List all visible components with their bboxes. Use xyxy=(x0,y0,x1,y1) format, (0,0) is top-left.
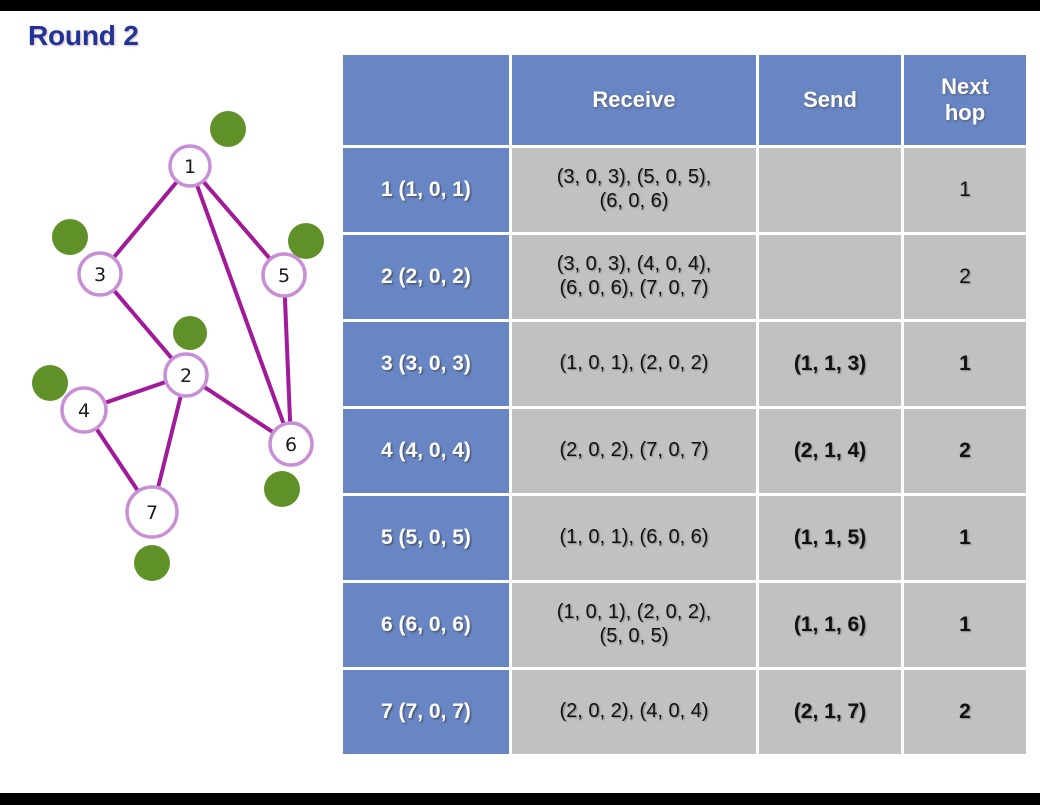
cell-receive: (2, 0, 2), (7, 0, 7) xyxy=(512,409,756,493)
message-dot-6 xyxy=(264,471,300,507)
message-dot-2 xyxy=(52,219,88,255)
cell-send: (1, 1, 6) xyxy=(759,583,901,667)
cell-node: 4 (4, 0, 4) xyxy=(343,409,509,493)
column-header-next-hop-line2: hop xyxy=(910,100,1020,126)
graph-edge-4-7 xyxy=(96,427,139,492)
cell-receive: (3, 0, 3), (4, 0, 4),(6, 0, 6), (7, 0, 7… xyxy=(512,235,756,319)
table-body: 1 (1, 0, 1)(3, 0, 3), (5, 0, 5),(6, 0, 6… xyxy=(343,148,1026,754)
cell-send: (2, 1, 7) xyxy=(759,670,901,754)
cell-receive-line1: (1, 0, 1), (2, 0, 2), xyxy=(518,601,750,625)
graph-node-label-4: 4 xyxy=(78,400,90,422)
cell-receive: (3, 0, 3), (5, 0, 5),(6, 0, 6) xyxy=(512,148,756,232)
cell-next-hop: 2 xyxy=(904,235,1026,319)
table-row: 3 (3, 0, 3)(1, 0, 1), (2, 0, 2)(1, 1, 3)… xyxy=(343,322,1026,406)
graph-edge-2-6 xyxy=(203,386,275,433)
table-row: 1 (1, 0, 1)(3, 0, 3), (5, 0, 5),(6, 0, 6… xyxy=(343,148,1026,232)
cell-send xyxy=(759,235,901,319)
graph-node-label-2: 2 xyxy=(180,365,192,387)
graph-edge-3-2 xyxy=(113,289,173,360)
cell-receive-line2: (6, 0, 6) xyxy=(518,190,750,214)
cell-send: (2, 1, 4) xyxy=(759,409,901,493)
cell-next-hop: 1 xyxy=(904,322,1026,406)
slide-canvas: Round 2 1352467 Receive Send Next hop 1 … xyxy=(0,11,1040,793)
cell-node: 3 (3, 0, 3) xyxy=(343,322,509,406)
cell-node: 7 (7, 0, 7) xyxy=(343,670,509,754)
cell-receive-line2: (6, 0, 6), (7, 0, 7) xyxy=(518,277,750,301)
graph-edge-2-7 xyxy=(158,394,181,488)
cell-node: 2 (2, 0, 2) xyxy=(343,235,509,319)
graph-edge-5-6 xyxy=(285,295,290,424)
cell-receive-line1: (2, 0, 2), (4, 0, 4) xyxy=(518,700,750,724)
cell-receive-line2: (5, 0, 5) xyxy=(518,625,750,649)
message-dot-3 xyxy=(288,223,324,259)
cell-node: 1 (1, 0, 1) xyxy=(343,148,509,232)
routing-table: Receive Send Next hop 1 (1, 0, 1)(3, 0, … xyxy=(340,52,1029,757)
column-header-receive: Receive xyxy=(512,55,756,145)
column-header-node xyxy=(343,55,509,145)
cell-receive-line1: (1, 0, 1), (6, 0, 6) xyxy=(518,526,750,550)
cell-receive: (1, 0, 1), (2, 0, 2) xyxy=(512,322,756,406)
cell-send: (1, 1, 5) xyxy=(759,496,901,580)
cell-receive: (1, 0, 1), (2, 0, 2),(5, 0, 5) xyxy=(512,583,756,667)
graph-node-label-3: 3 xyxy=(94,264,106,286)
cell-receive-line1: (1, 0, 1), (2, 0, 2) xyxy=(518,352,750,376)
cell-next-hop: 1 xyxy=(904,583,1026,667)
cell-node: 6 (6, 0, 6) xyxy=(343,583,509,667)
column-header-send: Send xyxy=(759,55,901,145)
graph-node-label-6: 6 xyxy=(285,434,297,456)
message-dot-5 xyxy=(32,365,68,401)
message-dot-1 xyxy=(210,111,246,147)
cell-next-hop: 1 xyxy=(904,148,1026,232)
graph-edge-2-4 xyxy=(104,381,167,403)
message-dot-4 xyxy=(173,316,207,350)
column-header-next-hop: Next hop xyxy=(904,55,1026,145)
cell-receive-line1: (3, 0, 3), (4, 0, 4), xyxy=(518,253,750,277)
graph-node-label-5: 5 xyxy=(278,265,290,287)
message-dot-7 xyxy=(134,545,170,581)
column-header-next-hop-line1: Next xyxy=(910,74,1020,100)
table-header-row: Receive Send Next hop xyxy=(343,55,1026,145)
network-graph: 1352467 xyxy=(0,39,340,599)
cell-send xyxy=(759,148,901,232)
cell-receive: (1, 0, 1), (6, 0, 6) xyxy=(512,496,756,580)
table-row: 7 (7, 0, 7)(2, 0, 2), (4, 0, 4)(2, 1, 7)… xyxy=(343,670,1026,754)
cell-receive-line1: (2, 0, 2), (7, 0, 7) xyxy=(518,439,750,463)
graph-node-label-1: 1 xyxy=(184,156,196,178)
cell-next-hop: 1 xyxy=(904,496,1026,580)
cell-send: (1, 1, 3) xyxy=(759,322,901,406)
graph-edge-1-3 xyxy=(113,181,178,259)
cell-receive: (2, 0, 2), (4, 0, 4) xyxy=(512,670,756,754)
cell-node: 5 (5, 0, 5) xyxy=(343,496,509,580)
table-row: 5 (5, 0, 5)(1, 0, 1), (6, 0, 6)(1, 1, 5)… xyxy=(343,496,1026,580)
table-row: 2 (2, 0, 2)(3, 0, 3), (4, 0, 4),(6, 0, 6… xyxy=(343,235,1026,319)
table-row: 4 (4, 0, 4)(2, 0, 2), (7, 0, 7)(2, 1, 4)… xyxy=(343,409,1026,493)
cell-next-hop: 2 xyxy=(904,670,1026,754)
cell-receive-line1: (3, 0, 3), (5, 0, 5), xyxy=(518,166,750,190)
graph-edge-1-5 xyxy=(202,180,271,259)
table-row: 6 (6, 0, 6)(1, 0, 1), (2, 0, 2),(5, 0, 5… xyxy=(343,583,1026,667)
table-head: Receive Send Next hop xyxy=(343,55,1026,145)
cell-next-hop: 2 xyxy=(904,409,1026,493)
graph-node-label-7: 7 xyxy=(146,502,158,524)
graph-svg: 1352467 xyxy=(0,39,340,599)
